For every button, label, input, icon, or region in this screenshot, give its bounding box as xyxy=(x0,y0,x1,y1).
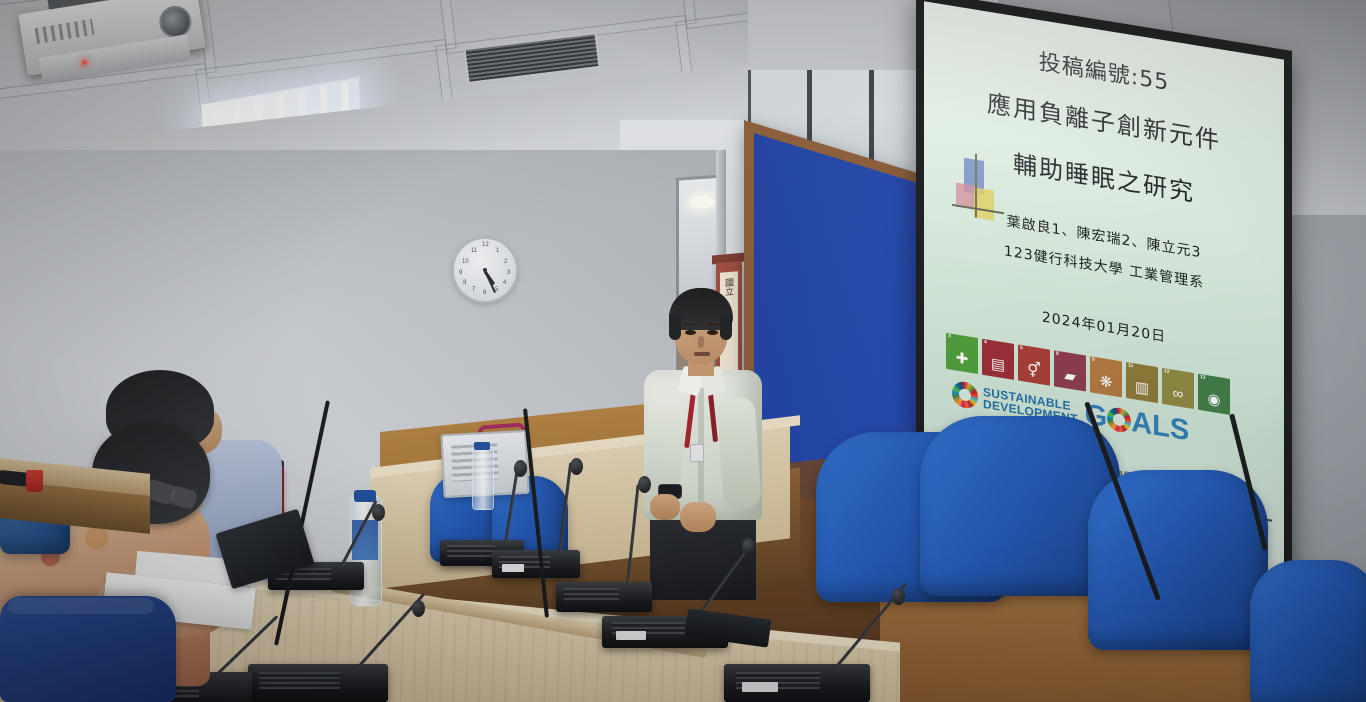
clock-num-4: 4 xyxy=(503,280,506,286)
sdg-wheel-icon xyxy=(952,380,978,410)
sdg-goal-11-number: 11 xyxy=(1128,363,1133,369)
clock-num-3: 3 xyxy=(507,270,510,276)
sdg-goal-13-number: 13 xyxy=(1200,375,1206,381)
clock-num-7: 7 xyxy=(472,287,475,293)
projector-status-led-icon xyxy=(82,60,87,65)
sdg-goal-9-glyph: ❋ xyxy=(1100,374,1113,391)
projector-lens-icon xyxy=(157,4,194,41)
projector-vent-icon xyxy=(35,19,95,44)
clock-num-11: 11 xyxy=(471,248,477,254)
red-cup xyxy=(26,470,43,492)
conference-room-photo: 12 1 2 3 4 5 6 7 8 9 10 11 國立 xyxy=(0,0,1366,702)
clock-num-12: 12 xyxy=(482,242,489,248)
water-bottle-back-cap xyxy=(474,442,490,450)
clock-num-1: 1 xyxy=(496,248,499,254)
sdg-goal-4-number: 4 xyxy=(984,340,987,345)
presenter-eye-right xyxy=(707,330,718,335)
presenter-sideburn-right xyxy=(720,314,732,340)
sdg-goal-5-glyph: ⚥ xyxy=(1027,362,1041,379)
wall-clock: 12 1 2 3 4 5 6 7 8 9 10 11 xyxy=(452,237,518,303)
sdg-goal-5-icon: 5 ⚥ xyxy=(1018,345,1050,386)
sdg-goal-12-glyph: ∞ xyxy=(1173,386,1184,403)
slide-decorative-mark xyxy=(956,156,1000,221)
sdg-goal-13-glyph: ◉ xyxy=(1207,391,1220,408)
clock-center-pin xyxy=(483,268,487,272)
sdg-goal-9-icon: 9 ❋ xyxy=(1090,356,1122,397)
sdg-goal-12-icon: 12 ∞ xyxy=(1162,368,1194,409)
backpack-strap xyxy=(8,598,154,614)
sdg-goal-3-number: 3 xyxy=(948,334,951,339)
presenter-mouth xyxy=(694,352,710,356)
sdg-goal-3-glyph: ✚ xyxy=(956,350,969,367)
corridor-light-icon xyxy=(690,196,714,208)
presenter-right-arm xyxy=(716,397,762,509)
presenter-nose xyxy=(698,336,704,348)
sdg-goal-8-icon: 8 ▰ xyxy=(1054,350,1086,391)
clock-num-9: 9 xyxy=(459,270,462,276)
sdg-goal-4-glyph: ▤ xyxy=(991,356,1005,373)
sdg-goal-3-icon: 3 ✚ xyxy=(946,333,978,374)
clock-num-8: 8 xyxy=(463,280,466,286)
clock-num-2: 2 xyxy=(504,259,507,265)
presenter-eyebrow-left xyxy=(683,323,697,326)
clock-num-10: 10 xyxy=(462,259,469,265)
sdg-goal-11-glyph: ▥ xyxy=(1135,379,1149,396)
clock-num-6: 6 xyxy=(483,290,486,296)
presenter-sideburn-left xyxy=(669,314,681,340)
sdg-goal-5-number: 5 xyxy=(1020,346,1023,351)
chair-far-right[interactable] xyxy=(1250,560,1366,702)
presenter-name-badge xyxy=(690,444,704,462)
sdg-goal-11-icon: 11 ▥ xyxy=(1126,362,1158,403)
sdg-goal-9-number: 9 xyxy=(1092,358,1095,363)
sdg-goal-13-icon: 13 ◉ xyxy=(1198,374,1230,415)
sdg-goal-8-number: 8 xyxy=(1056,352,1059,357)
presenter-eye-left xyxy=(685,330,696,335)
sdg-goal-4-icon: 4 ▤ xyxy=(982,339,1014,380)
sdg-goal-8-glyph: ▰ xyxy=(1064,368,1076,385)
sdg-goal-12-number: 12 xyxy=(1164,369,1170,375)
chair-foreground-right[interactable] xyxy=(1088,470,1268,670)
presenter-eyebrow-right xyxy=(706,323,720,326)
